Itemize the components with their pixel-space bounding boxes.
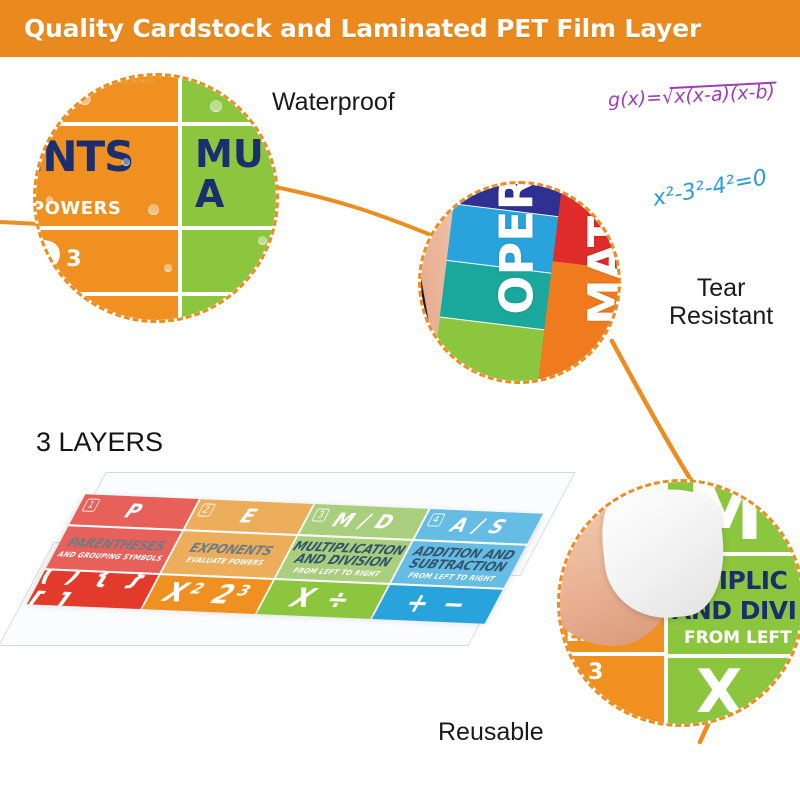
product-infographic: Quality Cardstock and Laminated PET Film… <box>0 0 800 800</box>
water-droplet <box>100 308 110 318</box>
water-droplet <box>164 264 172 272</box>
poster-head-parentheses: 1 P <box>69 494 198 529</box>
three-layer-stack-diagram: 1 P 2 E 3 M / D 4 A / S PARENTHESES AND … <box>18 470 558 670</box>
poster-symbol-text: ( ) { } [ ] <box>27 570 158 609</box>
poster-body-exponents: EXPONENTS EVALUATE POWERS <box>161 531 296 578</box>
pemdas-poster-layer: 1 P 2 E 3 M / D 4 A / S PARENTHESES AND … <box>29 494 543 620</box>
poster-body-text: MULTIPLICATION AND DIVISION FROM LEFT TO… <box>277 540 409 580</box>
poster-body-text: PARENTHESES AND GROUPING SYMBOLS <box>54 536 173 562</box>
label-reusable: Reusable <box>438 718 544 746</box>
label-tear-resistant: Tear Resistant <box>669 274 773 330</box>
panel-divider-vertical <box>178 76 182 320</box>
poster-body-text: EXPONENTS EVALUATE POWERS <box>180 542 277 568</box>
brand-watermark-sub: by Blank <box>120 78 194 85</box>
bubble-tear-content: OPERA MATIC <box>421 184 618 381</box>
water-droplet <box>210 100 222 112</box>
exponent-symbol-big: 23 <box>36 236 82 299</box>
bubble-waterproof-content: E PONENTS VALUATE POWERS 2 23 MU A VEBI … <box>36 76 276 320</box>
panel-divider-row2 <box>36 226 276 230</box>
panel-divider-row1 <box>36 122 276 126</box>
poster-subtitle: EVALUATE POWERS <box>182 557 267 568</box>
multiplication-symbol: X <box>696 662 742 722</box>
brand-watermark: VEBI by Blank <box>120 76 194 80</box>
multiplication-subtitle: FROM LEFT TO <box>684 628 800 648</box>
green-panel-line2: A <box>195 172 224 216</box>
exponent-partial-number: 3 <box>588 660 603 685</box>
poster-body-text: ADDITION AND SUBTRACTION FROM LEFT TO RI… <box>393 545 524 584</box>
poster-head-addition: 4 A / S <box>414 509 543 544</box>
water-droplet <box>78 92 91 105</box>
poster-title: MULTIPLICATION AND DIVISION <box>284 540 408 570</box>
water-droplet <box>46 196 53 203</box>
water-droplet <box>122 158 130 166</box>
bubble-tear-resistant-zoom: OPERA MATIC <box>418 181 621 384</box>
poster-body-addition: ADDITION AND SUBTRACTION FROM LEFT TO RI… <box>391 541 526 588</box>
formula-prefix: g(x)= <box>608 87 663 112</box>
poster-head-multiplication: 3 M / D <box>299 504 428 539</box>
water-droplet <box>228 316 239 320</box>
bubble-waterproof-zoom: E PONENTS VALUATE POWERS 2 23 MU A VEBI … <box>33 73 279 323</box>
poster-body-multiplication: MULTIPLICATION AND DIVISION FROM LEFT TO… <box>276 536 411 583</box>
exponents-word: PONENTS <box>36 132 133 181</box>
poster-symbols-exponents: X² 2³ <box>142 575 273 614</box>
bubble-reusable-content: M ALTIPLIC AND DIVI FROM LEFT TO X ERS 3 <box>560 482 800 724</box>
poster-step-number: 4 <box>426 513 446 527</box>
multiplication-poster-closeup: M ALTIPLIC AND DIVI FROM LEFT TO X ERS 3 <box>560 482 800 724</box>
green-panel-line1: MU <box>195 132 264 176</box>
operations-word-vertical: OPERA <box>490 184 544 315</box>
poster-title: ADDITION AND SUBTRACTION <box>399 545 522 575</box>
label-waterproof: Waterproof <box>272 88 395 116</box>
exponents-poster-closeup: E PONENTS VALUATE POWERS 2 23 MU A VEBI … <box>36 76 276 320</box>
poster-symbol-text: X² 2³ <box>158 578 257 612</box>
water-droplet <box>258 236 267 245</box>
poster-symbols-addition: + − <box>372 585 503 624</box>
panel-divider-orange <box>560 652 666 656</box>
poster-step-number: 1 <box>81 498 101 512</box>
poster-body-parentheses: PARENTHESES AND GROUPING SYMBOLS <box>46 526 181 573</box>
water-droplet <box>148 204 159 215</box>
poster-symbol-text: + − <box>399 588 475 621</box>
poster-letter: M / D <box>329 509 399 534</box>
label-3-layers: 3 LAYERS <box>36 427 163 458</box>
poster-symbols-parentheses: ( ) { } [ ] <box>27 570 158 609</box>
poster-step-number: 2 <box>196 503 216 517</box>
operations-poster-closeup: OPERA MATIC <box>421 184 618 381</box>
poster-letter: P <box>121 500 147 523</box>
bubble-reusable-zoom: M ALTIPLIC AND DIVI FROM LEFT TO X ERS 3 <box>557 479 800 727</box>
mathematic-word-vertical: MATIC <box>578 184 618 325</box>
poster-letter: A / S <box>446 514 510 538</box>
poster-letter: E <box>236 505 261 528</box>
poster-step-number: 3 <box>311 508 331 522</box>
poster-symbols-multiplication: X ÷ <box>257 580 388 619</box>
poster-symbol-text: X ÷ <box>285 583 360 616</box>
poster-head-exponents: 2 E <box>184 499 313 534</box>
